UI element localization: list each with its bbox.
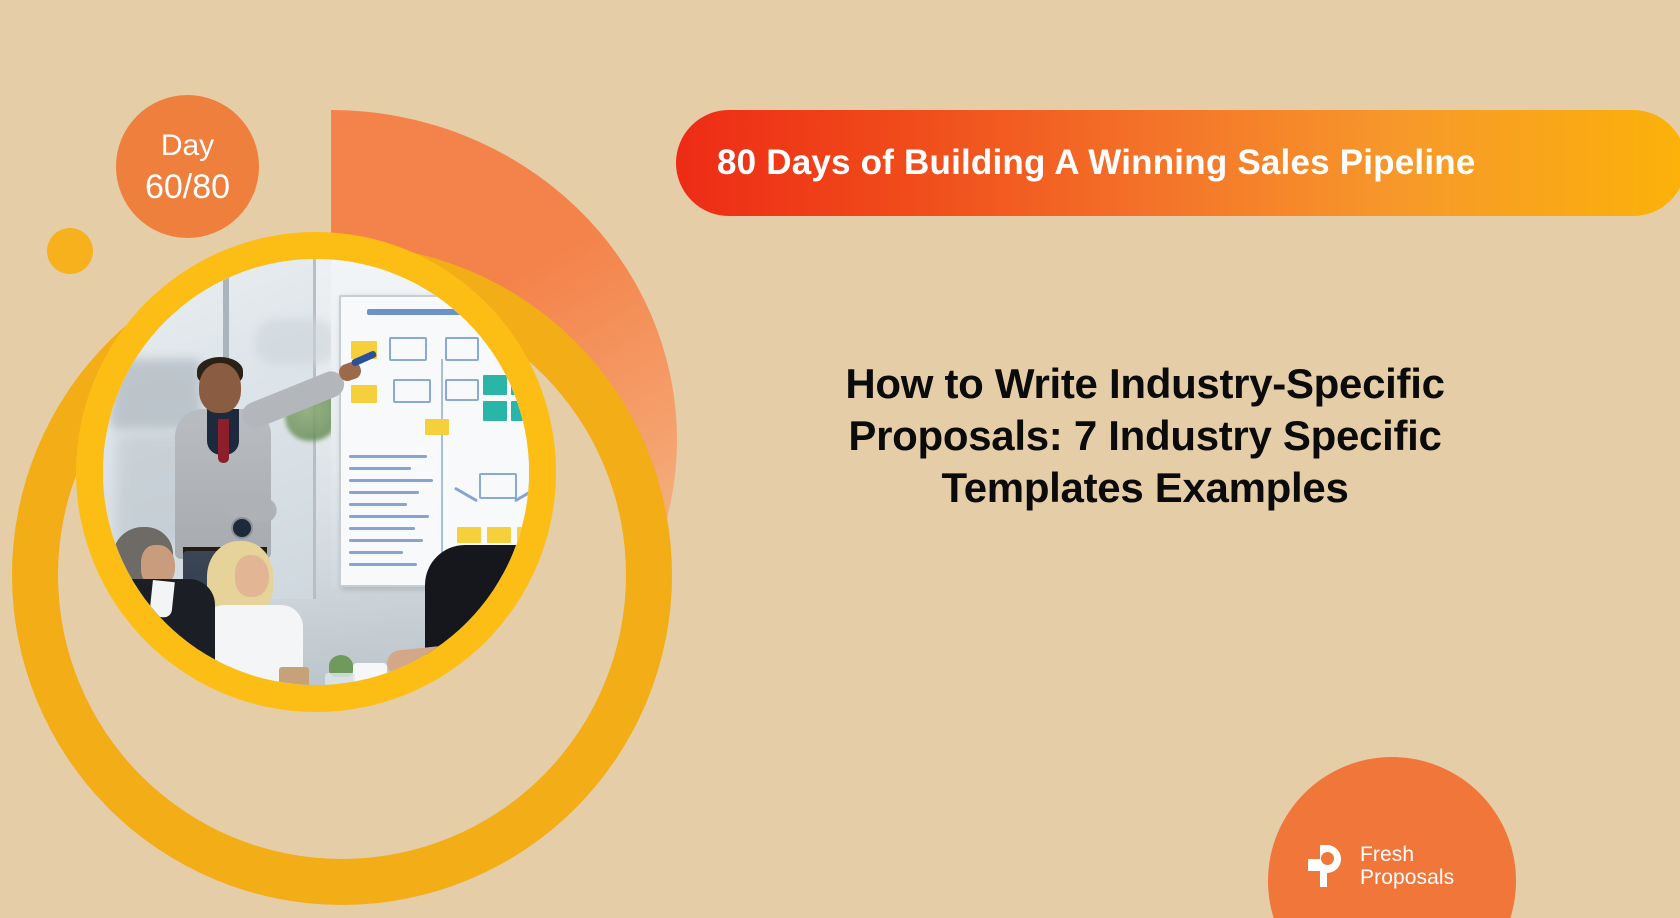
photo-sticky-note xyxy=(483,375,507,395)
day-badge-number: 60/80 xyxy=(145,166,230,208)
photo-glass-jar xyxy=(325,673,355,685)
photo-flow-box xyxy=(445,337,479,361)
photo-flow-box xyxy=(479,473,517,499)
photo-presenter-head xyxy=(199,363,241,413)
logo-line-2: Proposals xyxy=(1360,866,1454,889)
brand-logo: Fresh Proposals xyxy=(1308,843,1454,889)
photo-whiteboard-heading xyxy=(367,309,463,315)
logo-badge xyxy=(1268,757,1516,918)
photo-takeaway-cup xyxy=(279,667,309,685)
photo-flow-box xyxy=(445,379,479,401)
photo-background-blur-c xyxy=(255,319,335,365)
photo-scene xyxy=(103,259,529,685)
photo-sticky-note xyxy=(351,385,377,403)
page-title: How to Write Industry-Specific Proposals… xyxy=(790,358,1500,514)
photo-sticky-note xyxy=(457,527,481,543)
day-badge: Day 60/80 xyxy=(116,95,259,238)
header-banner: 80 Days of Building A Winning Sales Pipe… xyxy=(676,110,1680,216)
logo-wordmark: Fresh Proposals xyxy=(1360,843,1454,889)
meeting-photo xyxy=(103,259,529,685)
poster-canvas: 80 Days of Building A Winning Sales Pipe… xyxy=(0,0,1680,918)
photo-sticky-note xyxy=(511,401,529,421)
photo-sticky-note xyxy=(425,419,449,435)
photo-coffee-cup xyxy=(353,663,387,685)
photo-wristwatch xyxy=(231,517,253,539)
photo-whiteboard-divider xyxy=(441,359,443,583)
photo-flow-box xyxy=(393,379,431,403)
photo-attendee-blonde-face xyxy=(235,555,269,597)
photo-sticky-note xyxy=(511,375,529,395)
photo-attendee-collar xyxy=(149,580,175,618)
photo-whiteboard xyxy=(339,295,529,587)
photo-sticky-note xyxy=(487,527,511,543)
day-badge-label: Day xyxy=(161,126,214,166)
fresh-proposals-p-icon xyxy=(1308,845,1348,887)
logo-line-1: Fresh xyxy=(1360,843,1454,866)
photo-presenter-tie xyxy=(218,419,229,463)
banner-title: 80 Days of Building A Winning Sales Pipe… xyxy=(717,143,1476,183)
accent-dot-top xyxy=(47,228,93,274)
photo-sticky-note xyxy=(483,401,507,421)
photo-flow-box xyxy=(389,337,427,361)
photo-sticky-note xyxy=(517,527,529,543)
